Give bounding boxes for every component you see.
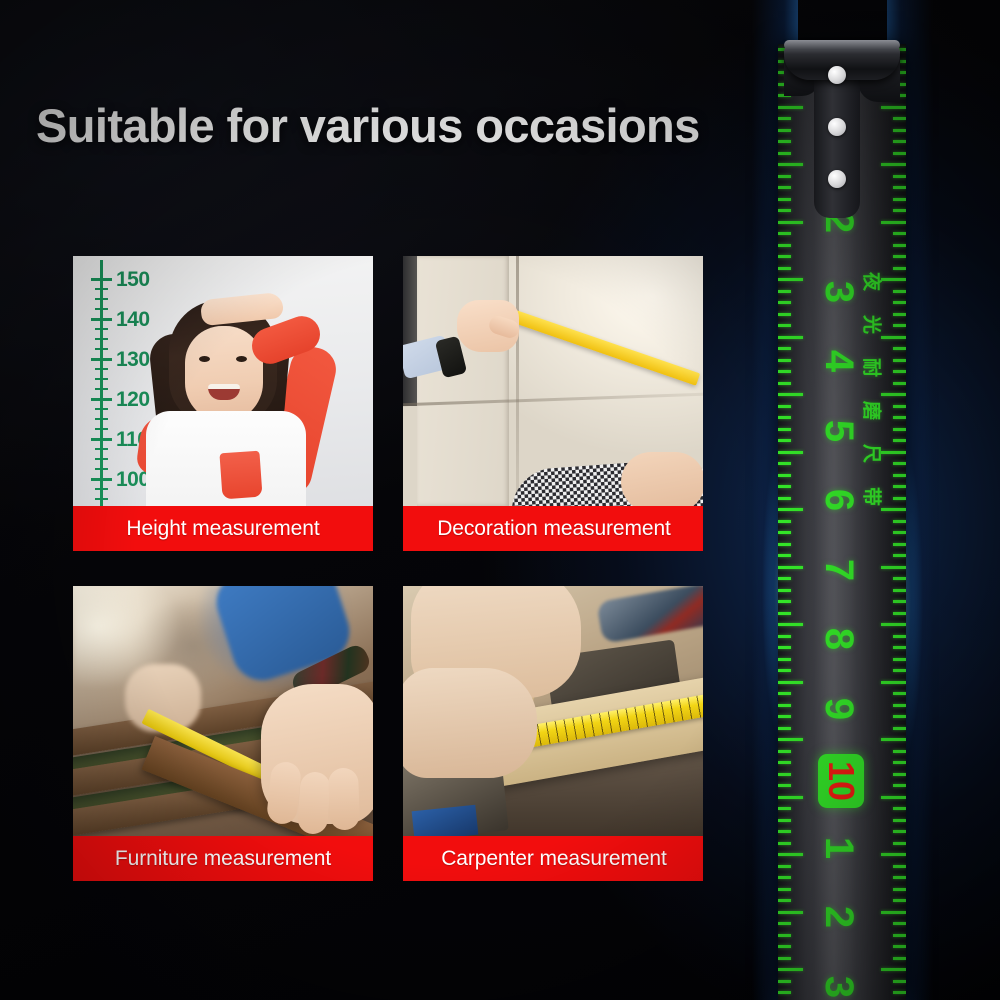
tape-tick-minor bbox=[778, 439, 791, 442]
tape-tick-minor bbox=[893, 957, 906, 960]
tape-tick-minor bbox=[778, 313, 791, 316]
girl-eye-left bbox=[199, 356, 210, 362]
tape-tick-minor bbox=[778, 416, 791, 419]
tape-tick-minor bbox=[778, 255, 791, 258]
tape-tick-major bbox=[778, 796, 803, 799]
tape-tick-minor bbox=[893, 807, 906, 810]
tape-tick-minor bbox=[778, 589, 791, 592]
background-tool bbox=[596, 586, 703, 644]
hook-rivet bbox=[828, 66, 846, 84]
tape-tick-minor bbox=[893, 244, 906, 247]
tape-tick-minor bbox=[893, 784, 906, 787]
tape-tick-minor bbox=[778, 876, 791, 879]
tape-tick-major bbox=[881, 968, 906, 971]
tape-brand-char: 尺 bbox=[862, 437, 881, 471]
finger bbox=[297, 771, 331, 835]
wall-panel bbox=[417, 256, 509, 506]
tape-number-1: 1 bbox=[819, 817, 859, 879]
tape-tick-major bbox=[778, 451, 803, 454]
tape-tick-minor bbox=[893, 462, 906, 465]
tape-brand-char: 耐 bbox=[862, 351, 881, 385]
tape-tick-major bbox=[881, 508, 906, 511]
holding-hand bbox=[403, 668, 537, 778]
tape-tick-major bbox=[881, 796, 906, 799]
tape-tick-minor bbox=[893, 520, 906, 523]
ruler-label-120: 120 bbox=[116, 388, 150, 412]
tape-tick-minor bbox=[893, 934, 906, 937]
tape-tick-minor bbox=[778, 152, 791, 155]
tape-tick-minor bbox=[778, 692, 791, 695]
tape-brand-char: 磨 bbox=[862, 394, 881, 428]
tape-tick-minor bbox=[778, 761, 791, 764]
tape-tick-minor bbox=[893, 405, 906, 408]
tape-tick-major bbox=[881, 278, 906, 281]
tape-tick-minor bbox=[778, 865, 791, 868]
tape-tick-major bbox=[881, 336, 906, 339]
tape-tick-minor bbox=[893, 428, 906, 431]
tape-number-3: 3 bbox=[819, 956, 859, 1000]
tape-tick-minor bbox=[893, 669, 906, 672]
yellow-tape-blade bbox=[507, 308, 700, 385]
photo-carpenter-measurement bbox=[403, 586, 703, 836]
tape-tick-minor bbox=[893, 945, 906, 948]
tape-tick-minor bbox=[778, 370, 791, 373]
tape-tick-minor bbox=[893, 474, 906, 477]
tape-number-9: 9 bbox=[819, 678, 859, 740]
tape-tick-minor bbox=[893, 715, 906, 718]
tape-tick-major bbox=[881, 221, 906, 224]
tape-tick-minor bbox=[893, 830, 906, 833]
tape-tick-major bbox=[881, 853, 906, 856]
tape-tick-minor bbox=[778, 129, 791, 132]
tape-tick-minor bbox=[778, 485, 791, 488]
tape-tick-minor bbox=[778, 347, 791, 350]
tape-tick-minor bbox=[893, 658, 906, 661]
tape-tick-minor bbox=[893, 347, 906, 350]
tape-tick-minor bbox=[778, 186, 791, 189]
tape-tick-minor bbox=[778, 646, 791, 649]
tape-tick-major bbox=[881, 163, 906, 166]
hook-rivet bbox=[828, 118, 846, 136]
tape-tick-minor bbox=[893, 301, 906, 304]
tape-tick-minor bbox=[893, 888, 906, 891]
tape-tick-minor bbox=[893, 255, 906, 258]
tape-tick-major bbox=[778, 738, 803, 741]
girl-shirt-pocket bbox=[219, 451, 262, 500]
tape-tick-minor bbox=[893, 773, 906, 776]
tape-number-8: 8 bbox=[819, 608, 859, 670]
use-case-card-height[interactable]: 150 140 130 120 110 100 Height bbox=[73, 256, 373, 551]
tape-tick-minor bbox=[778, 888, 791, 891]
hook-top-lip bbox=[784, 40, 900, 50]
tape-tick-minor bbox=[893, 635, 906, 638]
tape-tick-minor bbox=[893, 416, 906, 419]
tape-tick-minor bbox=[893, 497, 906, 500]
tape-tick-minor bbox=[778, 991, 791, 994]
tape-tick-minor bbox=[893, 842, 906, 845]
tape-tick-major bbox=[881, 451, 906, 454]
tape-tick-minor bbox=[893, 359, 906, 362]
tape-tick-minor bbox=[893, 439, 906, 442]
tape-number-highlighted: 10 bbox=[818, 754, 864, 808]
tape-tick-minor bbox=[778, 520, 791, 523]
tape-tick-minor bbox=[778, 198, 791, 201]
tape-tick-major bbox=[778, 911, 803, 914]
wall-edge bbox=[403, 256, 417, 406]
tape-tick-minor bbox=[778, 727, 791, 730]
tape-tick-minor bbox=[778, 600, 791, 603]
tape-tick-minor bbox=[778, 531, 791, 534]
girl-hand bbox=[200, 292, 284, 326]
tape-tick-minor bbox=[778, 267, 791, 270]
tape-tick-minor bbox=[893, 531, 906, 534]
tape-tick-minor bbox=[893, 198, 906, 201]
tape-tick-minor bbox=[778, 807, 791, 810]
tape-number-3: 3 bbox=[819, 261, 859, 323]
tape-tick-major bbox=[778, 221, 803, 224]
tape-tick-major bbox=[881, 623, 906, 626]
tape-tick-minor bbox=[778, 497, 791, 500]
tape-tick-minor bbox=[778, 301, 791, 304]
tape-tick-minor bbox=[893, 876, 906, 879]
tape-tick-major bbox=[778, 968, 803, 971]
tape-tick-minor bbox=[893, 899, 906, 902]
use-case-grid: 150 140 130 120 110 100 Height bbox=[73, 256, 703, 881]
tape-tick-minor bbox=[778, 704, 791, 707]
card-caption-decoration: Decoration measurement bbox=[403, 506, 703, 551]
use-case-card-carpenter[interactable]: Carpenter measurement bbox=[403, 586, 703, 881]
tape-tick-minor bbox=[778, 428, 791, 431]
tape-tick-minor bbox=[893, 577, 906, 580]
tape-tick-minor bbox=[778, 784, 791, 787]
tape-ticks-left bbox=[778, 44, 812, 1000]
tape-tick-minor bbox=[778, 290, 791, 293]
tape-tick-major bbox=[881, 911, 906, 914]
tape-tick-minor bbox=[778, 980, 791, 983]
forearm bbox=[621, 452, 703, 506]
tape-tick-minor bbox=[893, 761, 906, 764]
tape-tick-minor bbox=[893, 865, 906, 868]
tape-tick-major bbox=[778, 393, 803, 396]
ruler-label-140: 140 bbox=[116, 308, 150, 332]
photo-height-measurement: 150 140 130 120 110 100 bbox=[73, 256, 373, 506]
tape-tick-minor bbox=[778, 175, 791, 178]
tape-tick-minor bbox=[893, 267, 906, 270]
girl-eye-right bbox=[236, 356, 247, 362]
tape-number-7: 7 bbox=[819, 539, 859, 601]
tape-tick-minor bbox=[778, 117, 791, 120]
tape-tick-minor bbox=[778, 899, 791, 902]
tape-tick-minor bbox=[893, 612, 906, 615]
tape-ticks-right bbox=[872, 44, 906, 1000]
tape-tick-major bbox=[778, 336, 803, 339]
tape-brand-char: 夜 bbox=[862, 265, 881, 299]
tape-tick-minor bbox=[778, 554, 791, 557]
tape-tick-major bbox=[778, 853, 803, 856]
tape-tick-minor bbox=[893, 175, 906, 178]
tape-tick-minor bbox=[893, 129, 906, 132]
card-caption-furniture: Furniture measurement bbox=[73, 836, 373, 881]
tape-tick-minor bbox=[778, 773, 791, 776]
tape-tick-minor bbox=[778, 957, 791, 960]
card-caption-height: Height measurement bbox=[73, 506, 373, 551]
tape-tick-minor bbox=[893, 543, 906, 546]
tape-measure-product: 2345678910123 夜光耐磨尺带 bbox=[770, 0, 915, 1000]
tape-tick-minor bbox=[893, 313, 906, 316]
tape-tick-minor bbox=[778, 669, 791, 672]
tape-tick-minor bbox=[778, 140, 791, 143]
tape-tick-minor bbox=[893, 991, 906, 994]
tape-tick-major bbox=[778, 508, 803, 511]
ruler-label-130: 130 bbox=[116, 348, 150, 372]
tape-tick-minor bbox=[893, 117, 906, 120]
tape-tick-major bbox=[778, 623, 803, 626]
photo-furniture-measurement bbox=[73, 586, 373, 836]
tape-tick-major bbox=[881, 681, 906, 684]
tape-tick-major bbox=[778, 163, 803, 166]
tape-tick-minor bbox=[778, 244, 791, 247]
tape-brand-char: 带 bbox=[862, 480, 881, 514]
tape-tick-minor bbox=[778, 945, 791, 948]
tape-tick-minor bbox=[893, 324, 906, 327]
tape-tick-minor bbox=[778, 577, 791, 580]
tape-tick-minor bbox=[893, 209, 906, 212]
tape-tick-minor bbox=[893, 370, 906, 373]
tape-tick-minor bbox=[893, 704, 906, 707]
tape-tick-major bbox=[778, 681, 803, 684]
page-title: Suitable for various occasions bbox=[36, 98, 700, 153]
card-caption-carpenter: Carpenter measurement bbox=[403, 836, 703, 881]
tape-tick-minor bbox=[893, 750, 906, 753]
tape-number-6: 6 bbox=[819, 469, 859, 531]
tape-tick-major bbox=[881, 393, 906, 396]
tape-number-4: 4 bbox=[819, 330, 859, 392]
wall-seam-vertical bbox=[516, 256, 519, 506]
vise-handle bbox=[412, 805, 479, 836]
tape-tick-minor bbox=[778, 715, 791, 718]
tape-tick-major bbox=[881, 566, 906, 569]
tape-tick-minor bbox=[778, 382, 791, 385]
tape-tick-minor bbox=[778, 819, 791, 822]
promo-image: Suitable for various occasions bbox=[0, 0, 1000, 1000]
use-case-card-furniture[interactable]: Furniture measurement bbox=[73, 586, 373, 881]
hook-rivet bbox=[828, 170, 846, 188]
tape-tick-minor bbox=[778, 405, 791, 408]
tape-number-5: 5 bbox=[819, 400, 859, 462]
tape-tick-minor bbox=[778, 232, 791, 235]
tape-tick-minor bbox=[778, 612, 791, 615]
tape-tick-minor bbox=[893, 152, 906, 155]
tape-tick-major bbox=[778, 106, 803, 109]
tape-tick-major bbox=[881, 106, 906, 109]
tape-tick-minor bbox=[778, 934, 791, 937]
tape-tick-minor bbox=[893, 290, 906, 293]
tape-tick-minor bbox=[893, 727, 906, 730]
tape-tick-major bbox=[778, 566, 803, 569]
use-case-card-decoration[interactable]: Decoration measurement bbox=[403, 256, 703, 551]
tape-tick-minor bbox=[893, 485, 906, 488]
tape-tick-minor bbox=[778, 842, 791, 845]
tape-tick-minor bbox=[893, 980, 906, 983]
ruler-label-150: 150 bbox=[116, 268, 150, 292]
tape-tick-minor bbox=[778, 209, 791, 212]
tape-tick-minor bbox=[778, 922, 791, 925]
photo-decoration-measurement bbox=[403, 256, 703, 506]
tape-number-2: 2 bbox=[819, 886, 859, 948]
tape-tick-minor bbox=[778, 359, 791, 362]
tape-tick-minor bbox=[893, 819, 906, 822]
tape-tick-minor bbox=[893, 554, 906, 557]
tape-tick-minor bbox=[893, 922, 906, 925]
tape-tick-minor bbox=[893, 589, 906, 592]
tape-tick-minor bbox=[893, 646, 906, 649]
tape-tick-minor bbox=[893, 692, 906, 695]
tape-tick-minor bbox=[893, 232, 906, 235]
tape-tick-minor bbox=[778, 324, 791, 327]
tape-tick-minor bbox=[778, 543, 791, 546]
tape-tick-minor bbox=[893, 382, 906, 385]
tape-tick-minor bbox=[893, 140, 906, 143]
tape-tick-minor bbox=[778, 474, 791, 477]
tape-tick-minor bbox=[778, 462, 791, 465]
tape-tick-minor bbox=[778, 635, 791, 638]
tape-tick-major bbox=[881, 738, 906, 741]
tape-tick-major bbox=[778, 278, 803, 281]
finger bbox=[328, 767, 360, 830]
tape-tick-minor bbox=[893, 600, 906, 603]
tape-tick-minor bbox=[778, 750, 791, 753]
tape-tick-minor bbox=[778, 658, 791, 661]
tape-brand-char: 光 bbox=[862, 308, 881, 342]
tape-tick-minor bbox=[778, 830, 791, 833]
tape-tick-minor bbox=[893, 186, 906, 189]
